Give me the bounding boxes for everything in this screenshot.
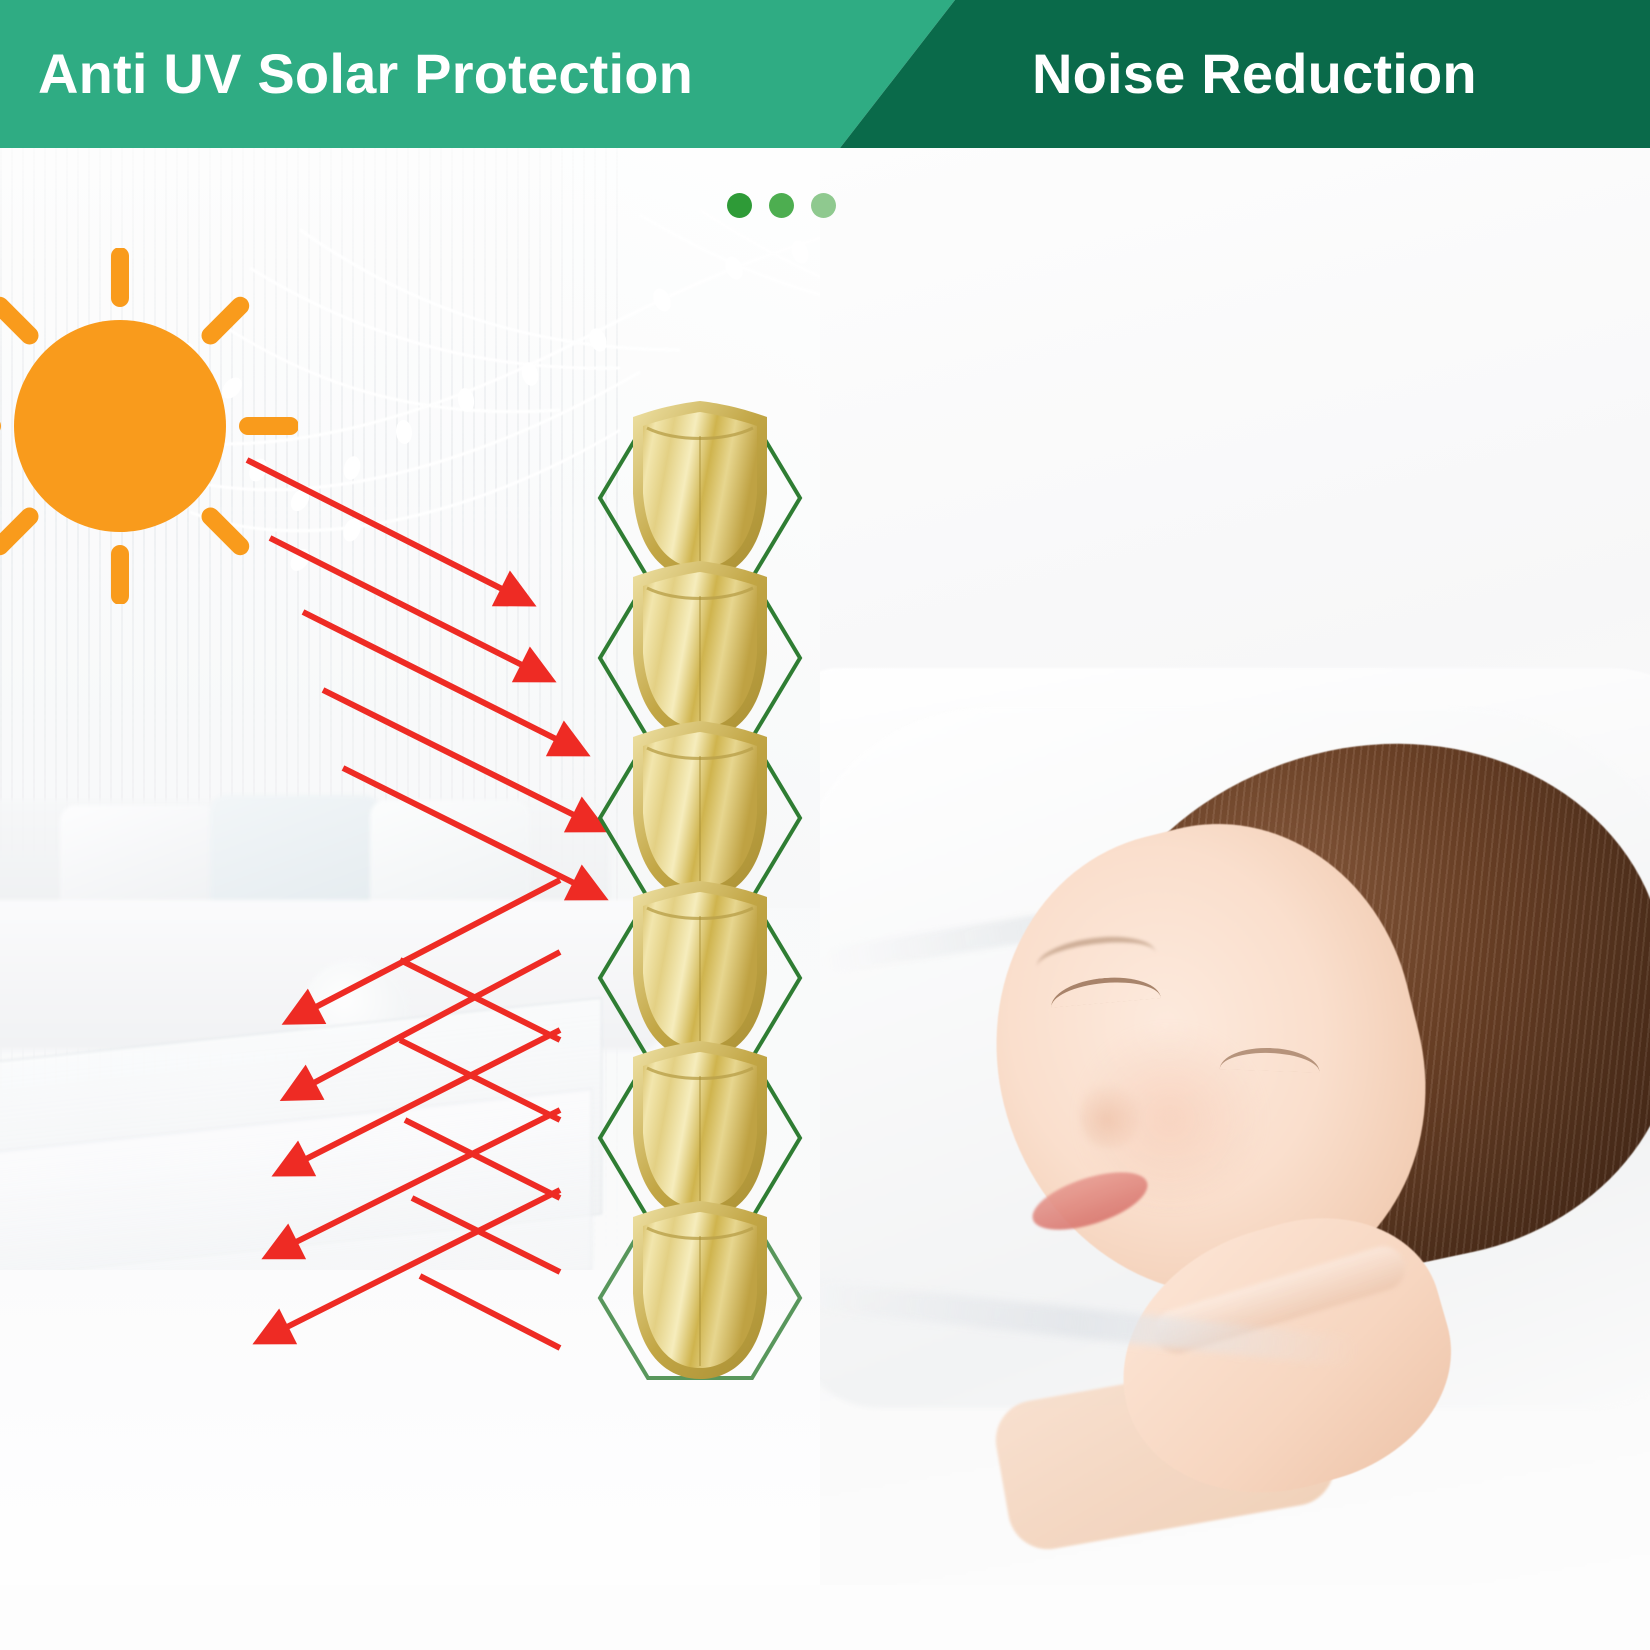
carousel-dot-3[interactable] [811, 193, 836, 218]
header-bar: Anti UV Solar Protection Noise Reduction [0, 0, 1650, 148]
product-feature-banner: Anti UV Solar Protection Noise Reduction [0, 0, 1650, 1650]
child-nose [1080, 1078, 1140, 1148]
sleeping-child-photo [820, 148, 1650, 1650]
header-left-title: Anti UV Solar Protection [38, 0, 693, 148]
carousel-dots[interactable] [727, 193, 836, 218]
carousel-dot-1[interactable] [727, 193, 752, 218]
header-right-title: Noise Reduction [1032, 0, 1477, 148]
bottom-white-band [0, 1585, 1650, 1650]
sun-icon [0, 248, 298, 604]
carousel-dot-2[interactable] [769, 193, 794, 218]
